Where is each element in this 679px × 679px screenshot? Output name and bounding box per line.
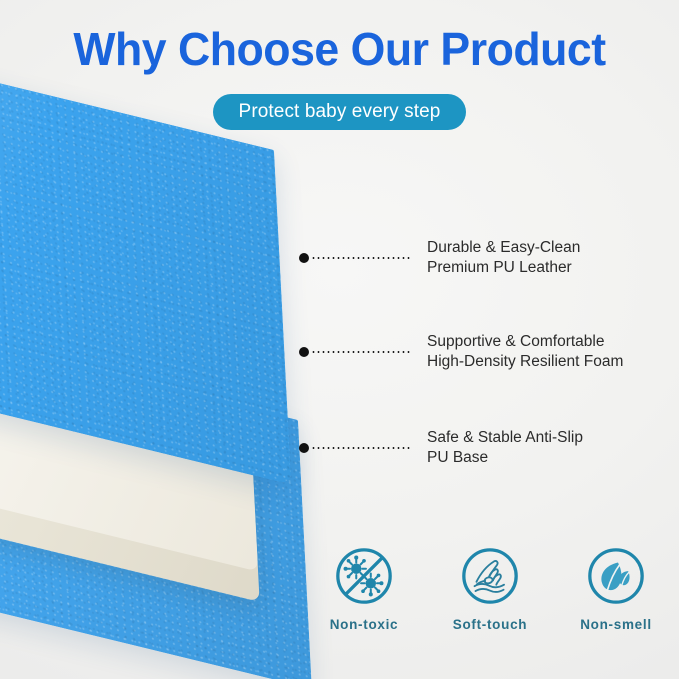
callout-leader-line <box>311 351 411 353</box>
callout-text: Durable & Easy-Clean Premium PU Leather <box>427 238 580 278</box>
feature-label: Non-toxic <box>330 617 399 632</box>
leaf-icon <box>585 545 647 607</box>
subtitle-badge-wrap: Protect baby every step <box>0 94 679 130</box>
callout-dot-icon <box>299 347 309 357</box>
feature-label: Non-smell <box>580 617 652 632</box>
callout-dot-icon <box>299 443 309 453</box>
callout-leader-line <box>311 447 411 449</box>
callout-leather: Durable & Easy-Clean Premium PU Leather <box>299 238 580 278</box>
feature-label: Soft-touch <box>453 617 527 632</box>
product-infographic: Why Choose Our Product Protect baby ever… <box>0 0 679 679</box>
feature-badge-row: Non-toxic Soft-touch <box>310 545 670 632</box>
feature-non-toxic: Non-toxic <box>310 545 418 632</box>
callout-foam: Supportive & Comfortable High-Density Re… <box>299 332 623 372</box>
no-virus-icon <box>333 545 395 607</box>
page-title: Why Choose Our Product <box>10 22 669 76</box>
callout-dot-icon <box>299 253 309 263</box>
subtitle-badge: Protect baby every step <box>213 94 467 130</box>
callout-text: Safe & Stable Anti-Slip PU Base <box>427 428 583 468</box>
hand-touch-surface-icon <box>459 545 521 607</box>
feature-non-smell: Non-smell <box>562 545 670 632</box>
callout-leader-line <box>311 257 411 259</box>
feature-soft-touch: Soft-touch <box>436 545 544 632</box>
callout-text: Supportive & Comfortable High-Density Re… <box>427 332 623 372</box>
callout-base: Safe & Stable Anti-Slip PU Base <box>299 428 583 468</box>
